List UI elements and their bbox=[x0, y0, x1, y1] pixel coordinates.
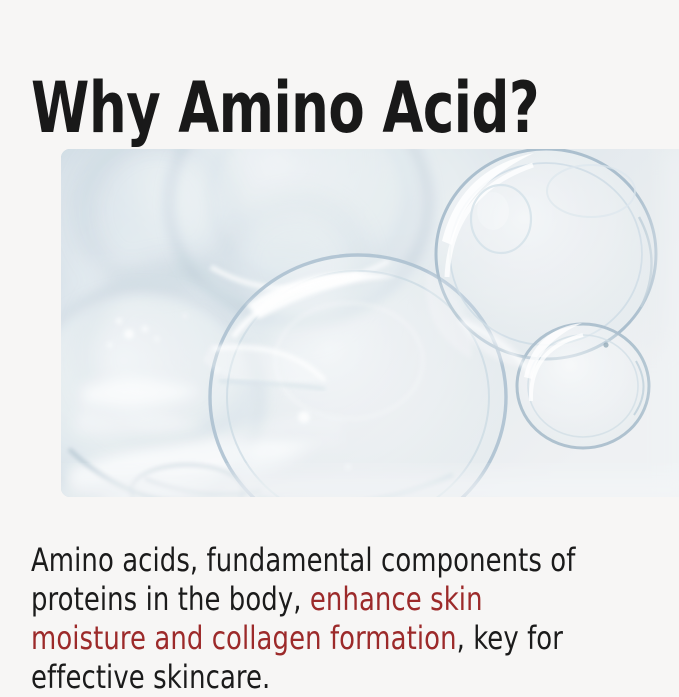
body-text-part-1: Amino acids, fundamental components of p… bbox=[31, 541, 575, 618]
bubbles-hero-image bbox=[61, 149, 679, 497]
body-paragraph: Amino acids, fundamental components of p… bbox=[31, 541, 598, 697]
image-haze-overlay bbox=[61, 149, 679, 497]
product-info-panel: Why Amino Acid? bbox=[0, 0, 679, 679]
bubbles-illustration bbox=[61, 149, 679, 497]
page-title: Why Amino Acid? bbox=[31, 69, 552, 147]
